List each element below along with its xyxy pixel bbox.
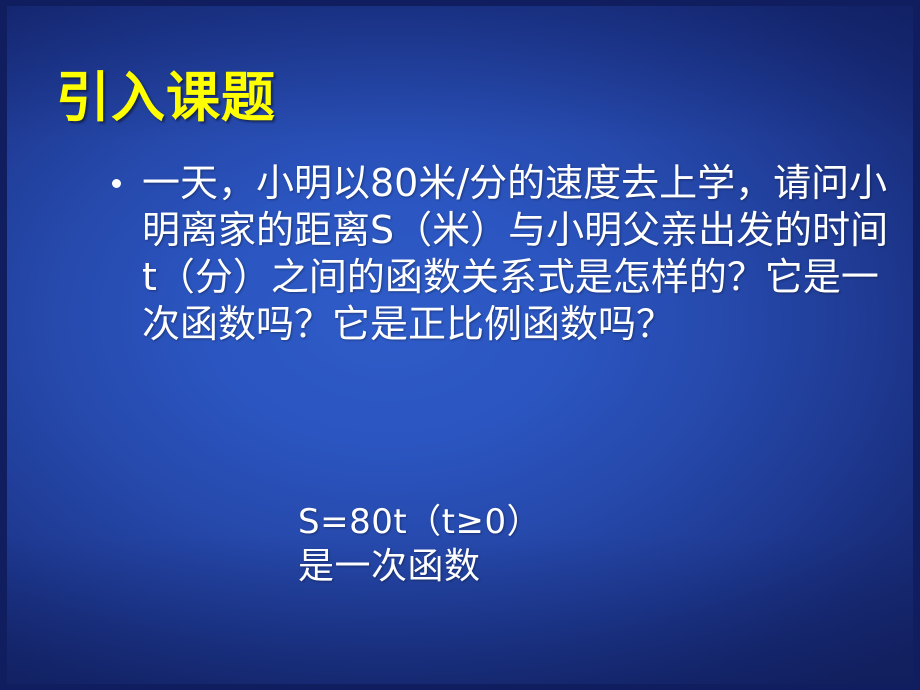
bullet-point-icon: [112, 179, 121, 188]
conclusion-block: S=80t（t≥0） 是一次函数: [298, 500, 541, 590]
presentation-slide: 引入课题 一天，小明以80米/分的速度去上学，请问小明离家的距离S（米）与小明父…: [0, 0, 920, 690]
bullet-list-item: 一天，小明以80米/分的速度去上学，请问小明离家的距离S（米）与小明父亲出发的时…: [112, 160, 902, 348]
body-paragraph: 一天，小明以80米/分的速度去上学，请问小明离家的距离S（米）与小明父亲出发的时…: [142, 160, 902, 348]
conclusion-statement: 是一次函数: [298, 544, 541, 590]
body-content-block: 一天，小明以80米/分的速度去上学，请问小明离家的距离S（米）与小明父亲出发的时…: [112, 160, 902, 348]
function-formula: S=80t（t≥0）: [298, 500, 541, 544]
slide-title: 引入课题: [56, 68, 276, 128]
paragraph-segment-serif: 它是正比例函数吗？: [332, 302, 674, 346]
